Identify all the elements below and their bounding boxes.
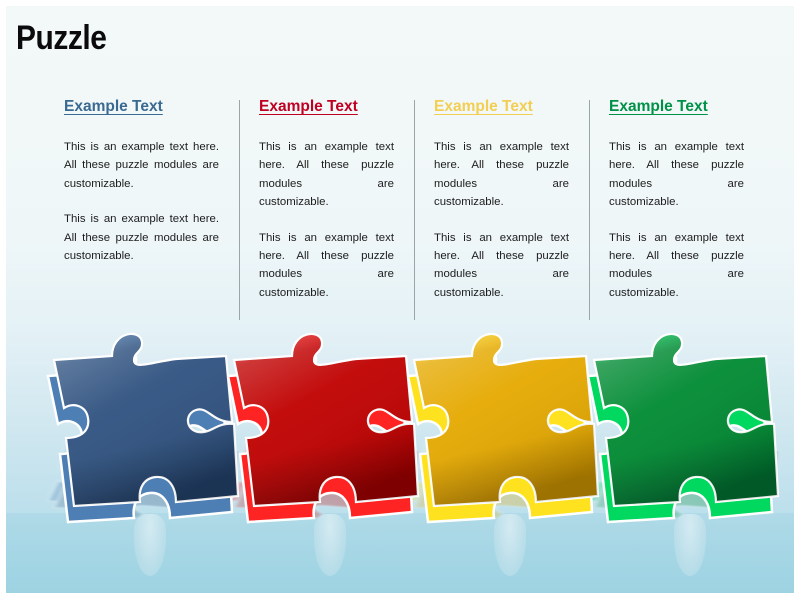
slide-canvas: Puzzle Example TextThis is an example te… [0,0,800,600]
column-paragraph: This is an example text here. All these … [64,138,219,193]
text-column-1: Example TextThis is an example text here… [64,98,239,323]
column-paragraph: This is an example text here. All these … [259,229,394,303]
text-columns: Example TextThis is an example text here… [64,98,764,323]
text-column-4: Example TextThis is an example text here… [589,98,764,323]
puzzle-illustration [0,318,800,600]
column-heading[interactable]: Example Text [609,98,744,116]
column-paragraph: This is an example text here. All these … [259,138,394,212]
text-column-2: Example TextThis is an example text here… [239,98,414,323]
frame-edge-top [0,0,800,6]
frame-edge-bottom [0,593,800,600]
column-heading[interactable]: Example Text [259,98,394,116]
frame-edge-left [0,0,6,600]
puzzle-piece-shape[interactable] [26,326,262,536]
column-paragraph: This is an example text here. All these … [609,229,744,303]
column-paragraph: This is an example text here. All these … [609,138,744,212]
column-heading[interactable]: Example Text [64,98,219,116]
text-column-3: Example TextThis is an example text here… [414,98,589,323]
column-paragraph: This is an example text here. All these … [434,229,569,303]
puzzle-piece-1[interactable] [26,326,262,536]
page-title: Puzzle [16,18,106,58]
column-paragraph: This is an example text here. All these … [64,210,219,265]
column-paragraph: This is an example text here. All these … [434,138,569,212]
column-heading[interactable]: Example Text [434,98,569,116]
